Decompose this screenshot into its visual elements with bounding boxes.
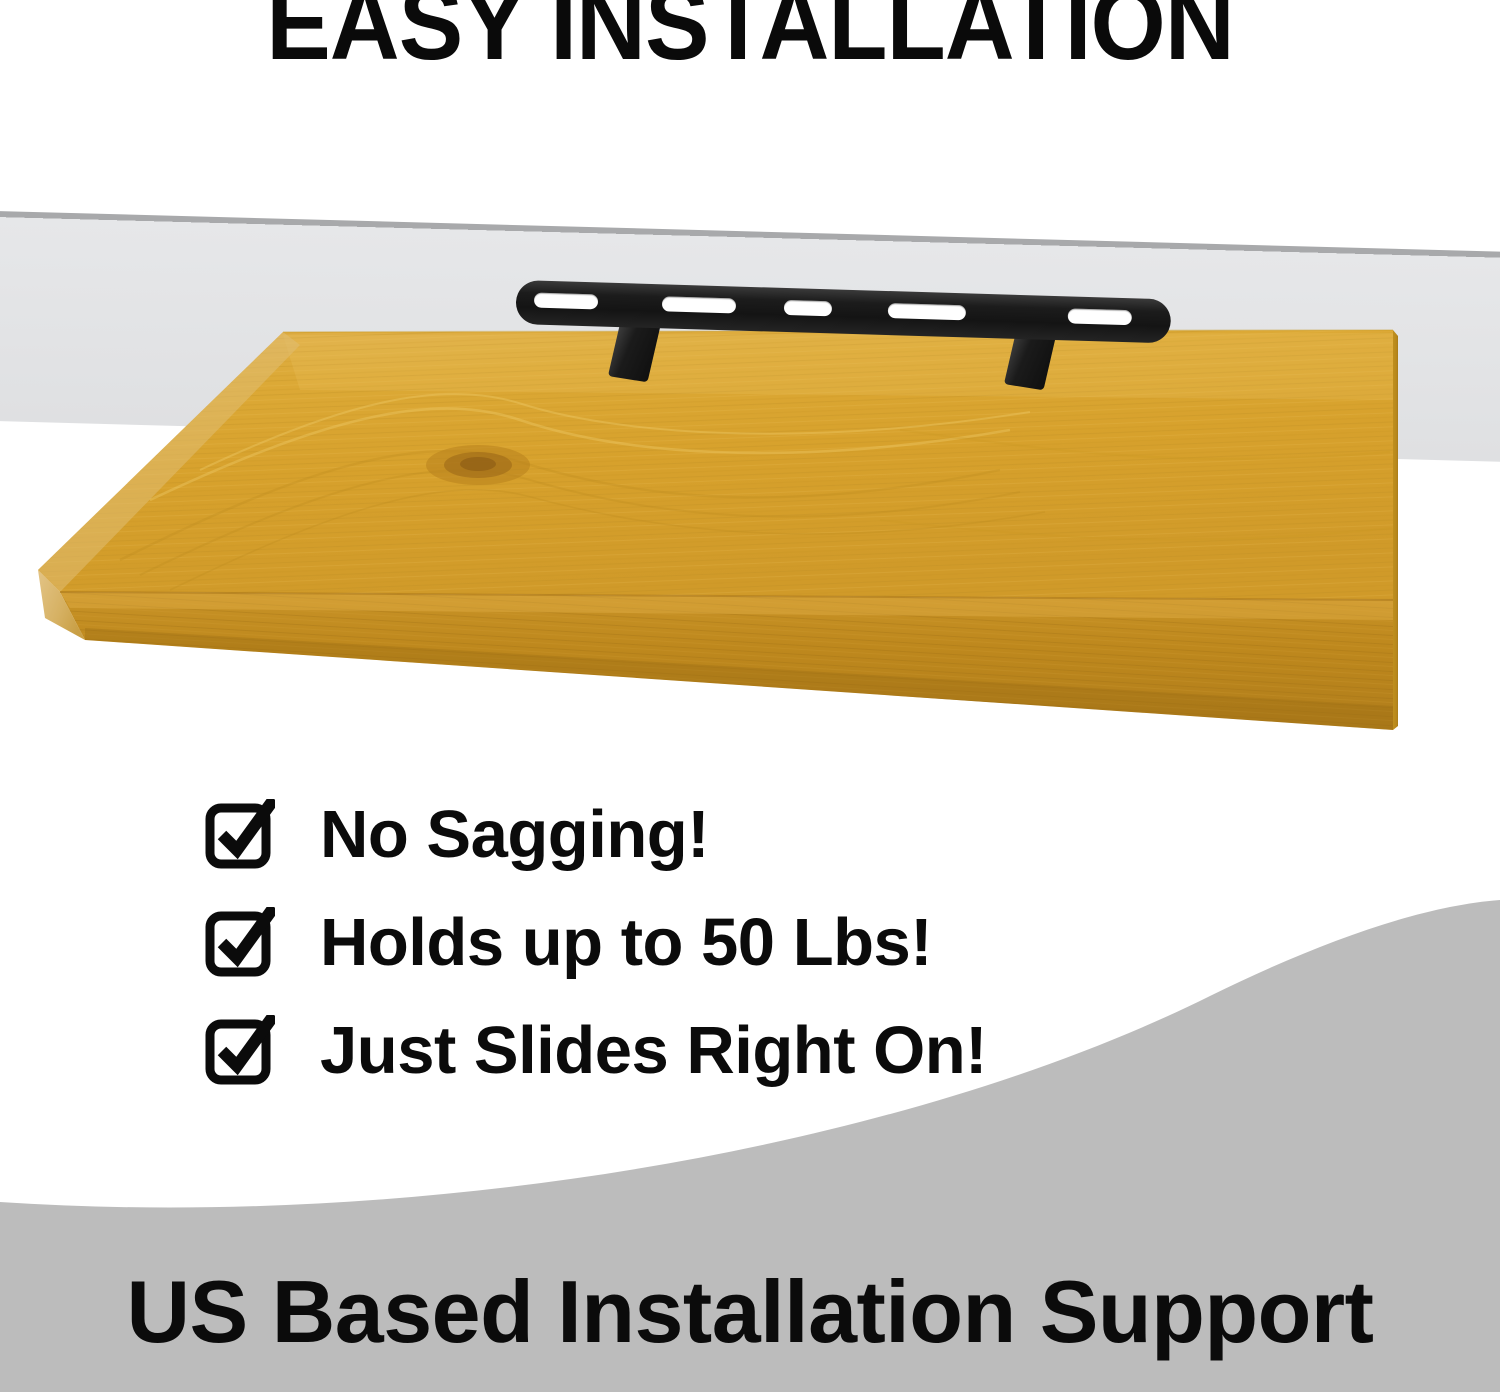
bracket-slot-1 (534, 293, 598, 310)
list-item: No Sagging! (205, 780, 1305, 888)
bracket-slot-3 (784, 300, 832, 316)
product-marketing-image: EASY INSTALLATION (0, 0, 1500, 1392)
bracket-slot-5 (1068, 308, 1132, 325)
bracket-slot-2 (662, 296, 736, 313)
bottom-banner-text: US Based Installation Support (0, 1268, 1500, 1356)
page-title: EASY INSTALLATION (53, 0, 1448, 76)
bracket-slot-4 (888, 303, 966, 320)
checkbox-checked-icon (205, 799, 275, 869)
wall-bracket (516, 258, 1176, 368)
list-item-label: No Sagging! (320, 801, 709, 868)
bracket-bar (515, 280, 1171, 343)
